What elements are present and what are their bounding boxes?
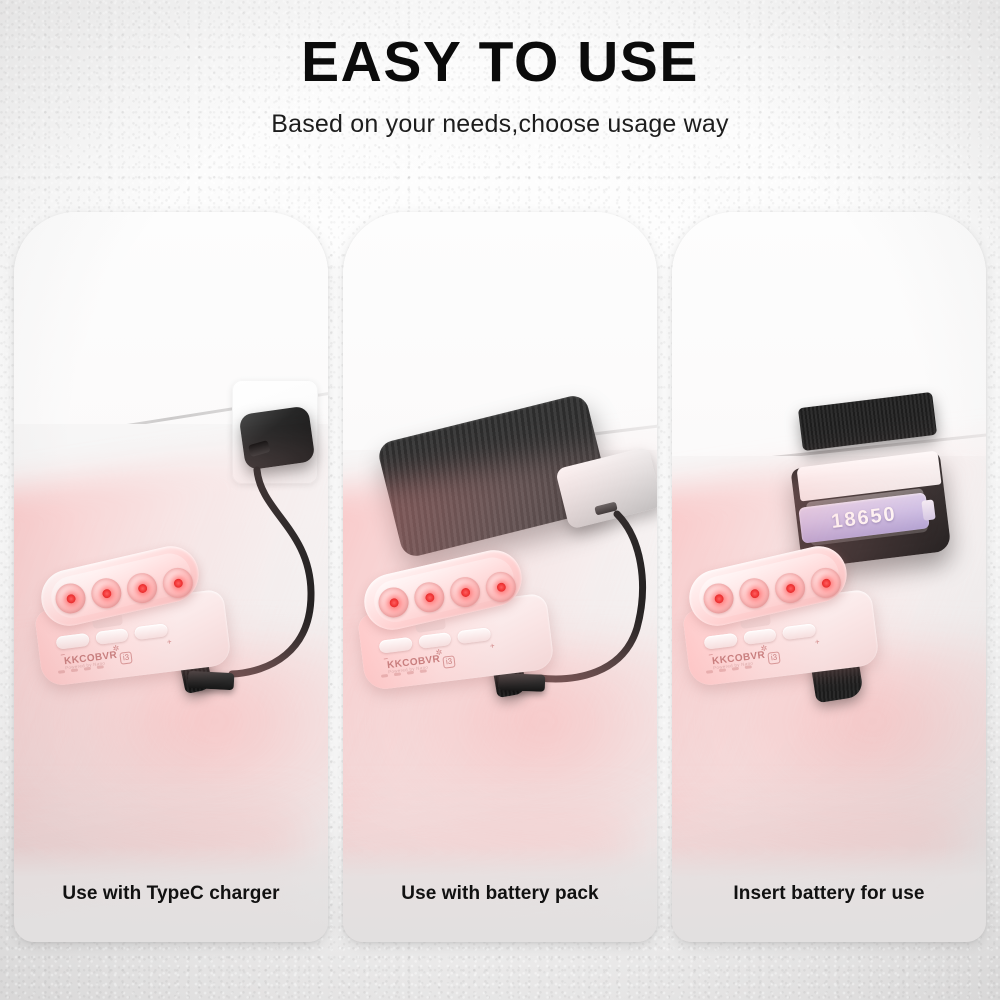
usage-panel-typec-charger: − ✲ + KKCOBVR Powered by Nano i3 Use wit… [14, 212, 328, 942]
caption-text: Insert battery for use [733, 883, 924, 905]
caption-text: Use with battery pack [401, 883, 598, 905]
panel-caption-insert-battery: Insert battery for use [672, 846, 986, 942]
red-light-headlamp: − ✲ + KKCOBVR Powered by Nano i3 [682, 552, 897, 687]
battery-positive-terminal [921, 499, 935, 520]
page-subtitle: Based on your needs,choose usage way [0, 110, 1000, 139]
usage-panel-battery-pack: − ✲ + KKCOBVR Powered by Nano i3 Use wit… [343, 212, 657, 942]
model-badge: i3 [119, 651, 133, 664]
header: EASY TO USE Based on your needs,choose u… [0, 34, 1000, 139]
usage-panel-insert-battery: 18650 − ✲ [672, 212, 986, 942]
page-title: EASY TO USE [0, 34, 1000, 91]
caption-text: Use with TypeC charger [62, 883, 279, 905]
panel-caption-typec: Use with TypeC charger [14, 846, 328, 942]
plus-label: + [814, 637, 820, 647]
scene-typec: − ✲ + KKCOBVR Powered by Nano i3 [14, 212, 328, 942]
battery-label: 18650 [830, 503, 898, 534]
scene-insert-battery: 18650 − ✲ [672, 212, 986, 942]
model-badge: i3 [767, 651, 781, 664]
model-badge: i3 [442, 655, 456, 668]
scene-battery-pack: − ✲ + KKCOBVR Powered by Nano i3 [343, 212, 657, 942]
panel-caption-battery-pack: Use with battery pack [343, 846, 657, 942]
red-light-headlamp: − ✲ + KKCOBVR Powered by Nano i3 [34, 552, 249, 687]
red-light-headlamp: − ✲ + KKCOBVR Powered by Nano i3 [357, 556, 572, 691]
plus-label: + [166, 637, 172, 647]
plus-label: + [489, 641, 495, 651]
